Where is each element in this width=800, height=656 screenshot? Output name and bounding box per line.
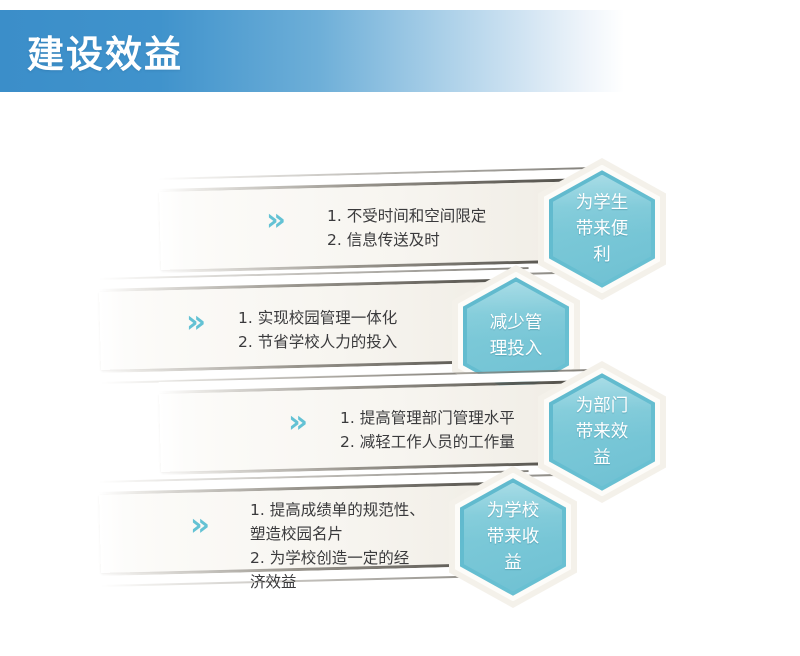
benefit-text-1: 1. 不受时间和空间限定 2. 信息传送及时 [327, 204, 567, 252]
page-title: 建设效益 [27, 34, 183, 76]
chevron-icon-1: » [266, 205, 283, 236]
benefit-text-2: 1. 实现校园管理一体化 2. 节省学校人力的投入 [238, 306, 478, 354]
slide-canvas: 建设效益 » 1. 不受时间和空间限定 2. 信息传送及时 为学生 带来便 利 … [0, 0, 800, 656]
header-banner: 建设效益 [0, 10, 800, 92]
chevron-icon-2: » [186, 307, 203, 338]
benefit-hexagon-4[interactable]: 为学校 带来收 益 [449, 466, 577, 608]
chevron-icon-3: » [288, 407, 305, 438]
hex-label-4: 为学校 带来收 益 [449, 466, 577, 608]
chevron-icon-4: » [190, 510, 207, 541]
